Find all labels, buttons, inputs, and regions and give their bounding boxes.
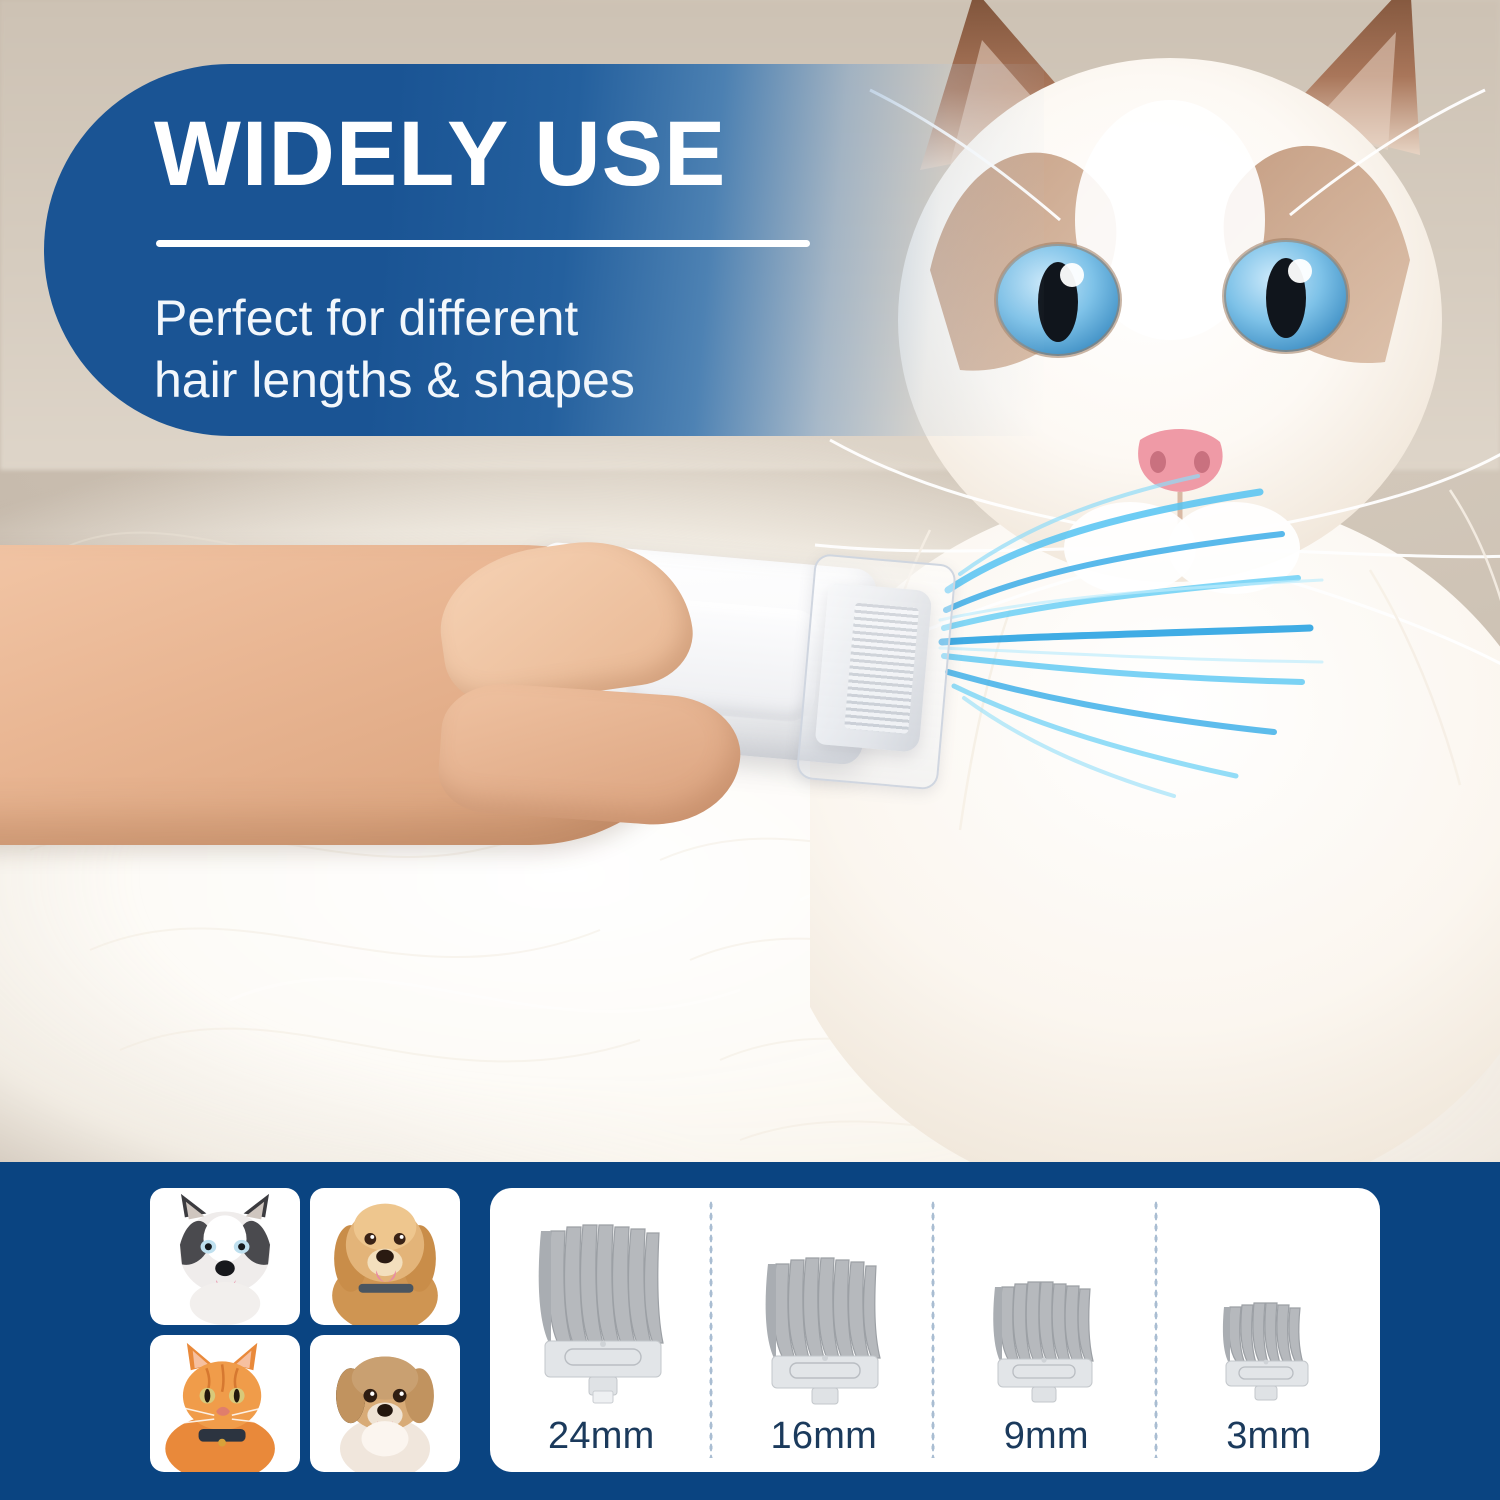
orange-tabby-cat-icon bbox=[150, 1335, 300, 1472]
comb-label-24mm: 24mm bbox=[548, 1409, 654, 1458]
comb-art-3 bbox=[1158, 1188, 1381, 1409]
husky-dog-icon bbox=[150, 1188, 300, 1325]
guard-comb-9mm-icon bbox=[982, 1269, 1110, 1409]
title-divider-rule bbox=[156, 240, 810, 247]
product-infographic: WIDELY USE Perfect for different hair le… bbox=[0, 0, 1500, 1500]
pet-tile-terrier-puppy bbox=[310, 1335, 460, 1472]
guard-comb-16mm-icon bbox=[752, 1244, 896, 1409]
pet-tile-husky-dog bbox=[150, 1188, 300, 1325]
subtitle-line-1: Perfect for different bbox=[154, 287, 914, 350]
pet-tile-golden-retriever-dog bbox=[310, 1188, 460, 1325]
comb-cell-1[interactable]: 16mm bbox=[713, 1188, 936, 1472]
headline-badge: WIDELY USE Perfect for different hair le… bbox=[44, 64, 1044, 436]
guard-comb-24mm-icon bbox=[521, 1213, 681, 1409]
comb-label-16mm: 16mm bbox=[771, 1409, 877, 1458]
comb-art-1 bbox=[713, 1188, 936, 1409]
page-title: WIDELY USE bbox=[154, 108, 914, 202]
guard-comb-sizes-card: 24mm bbox=[490, 1188, 1380, 1472]
comb-cell-0[interactable]: 24mm bbox=[490, 1188, 713, 1472]
guard-comb-3mm-icon bbox=[1212, 1291, 1326, 1409]
golden-retriever-icon bbox=[310, 1188, 460, 1325]
suction-airflow-streaks bbox=[930, 470, 1330, 800]
pet-tile-orange-tabby-cat bbox=[150, 1335, 300, 1472]
pet-types-grid bbox=[150, 1188, 460, 1472]
subtitle-line-2: hair lengths & shapes bbox=[154, 349, 914, 412]
terrier-puppy-icon bbox=[310, 1335, 460, 1472]
comb-cell-3[interactable]: 3mm bbox=[1158, 1188, 1381, 1472]
hand-fingers bbox=[436, 680, 744, 831]
comb-art-2 bbox=[935, 1188, 1158, 1409]
comb-label-3mm: 3mm bbox=[1226, 1409, 1311, 1458]
clipper-guard-attachment bbox=[796, 553, 957, 791]
comb-cell-2[interactable]: 9mm bbox=[935, 1188, 1158, 1472]
hero-photo: WIDELY USE Perfect for different hair le… bbox=[0, 0, 1500, 1162]
comb-label-9mm: 9mm bbox=[1004, 1409, 1089, 1458]
headline-badge-content: WIDELY USE Perfect for different hair le… bbox=[154, 108, 914, 412]
comb-art-0 bbox=[490, 1188, 713, 1409]
